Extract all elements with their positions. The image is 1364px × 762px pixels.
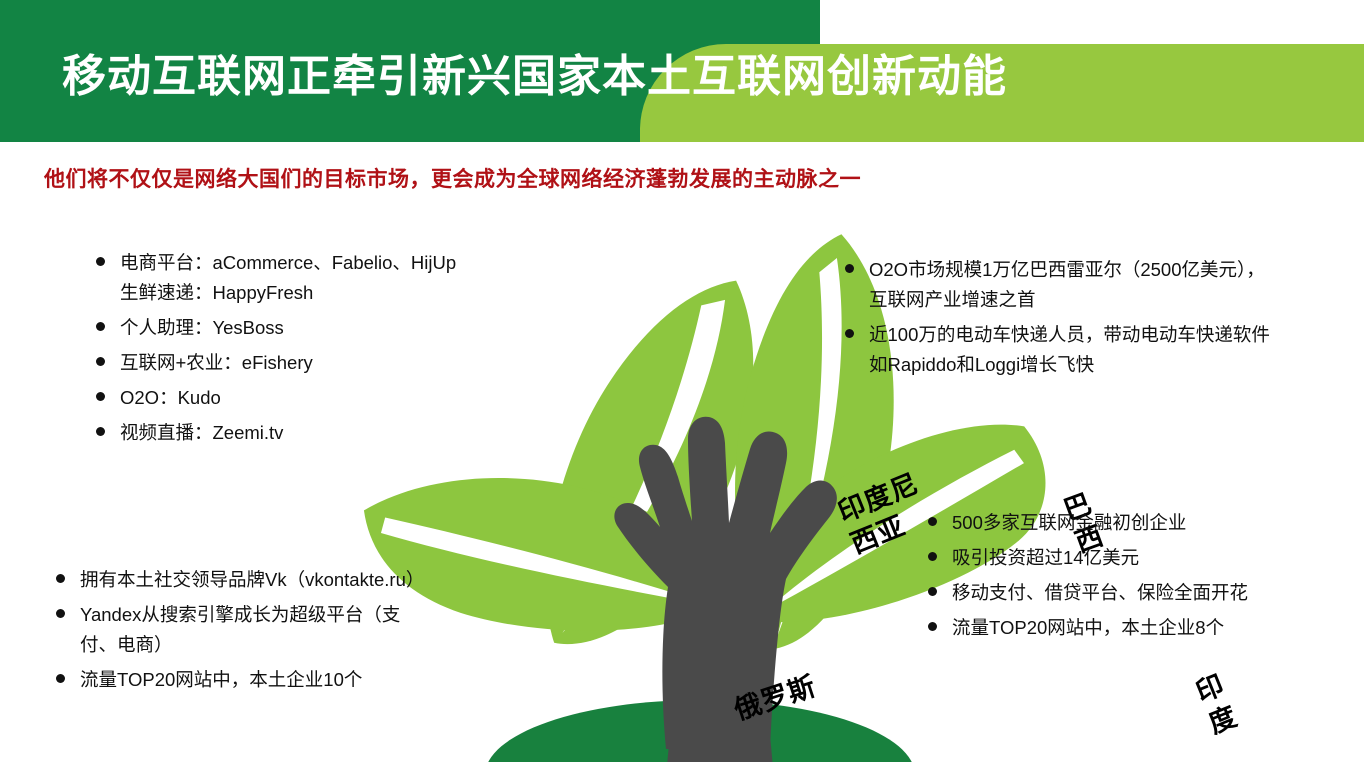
bullet-dot-icon	[96, 357, 105, 366]
list-item: 移动支付、借贷平台、保险全面开花	[928, 578, 1348, 608]
list-item: 500多家互联网金融初创企业	[928, 508, 1348, 538]
bullet-block-indonesia: 电商平台：aCommerce、Fabelio、HijUp生鲜速递：HappyFr…	[96, 248, 536, 453]
list-item-text: O2O市场规模1万亿巴西雷亚尔（2500亿美元），互联网产业增速之首	[869, 255, 1265, 315]
page-title: 移动互联网正牵引新兴国家本土互联网创新动能	[62, 50, 1262, 104]
list-item: 流量TOP20网站中，本土企业8个	[928, 613, 1348, 643]
list-item-text: 拥有本土社交领导品牌Vk（vkontakte.ru）	[80, 565, 424, 595]
subtitle: 他们将不仅仅是网络大国们的目标市场，更会成为全球网络经济蓬勃发展的主动脉之一	[44, 163, 861, 193]
list-item: 吸引投资超过14亿美元	[928, 543, 1348, 573]
bullet-dot-icon	[56, 574, 65, 583]
leaf-label-india: 印度	[1191, 668, 1242, 742]
bullet-dot-icon	[928, 517, 937, 526]
slide-canvas: 移动互联网正牵引新兴国家本土互联网创新动能 他们将不仅仅是网络大国们的目标市场，…	[0, 0, 1364, 762]
bullet-dot-icon	[96, 392, 105, 401]
list-item-subline: 互联网产业增速之首	[869, 285, 1265, 315]
list-item-subline: 付、电商）	[80, 630, 400, 660]
slide-header: 移动互联网正牵引新兴国家本土互联网创新动能	[0, 0, 1364, 142]
bullet-dot-icon	[928, 587, 937, 596]
list-item: 拥有本土社交领导品牌Vk（vkontakte.ru）	[56, 565, 516, 595]
list-item-text: 个人助理：YesBoss	[120, 313, 284, 343]
list-item-text: 互联网+农业：eFishery	[120, 348, 313, 378]
list-item: 近100万的电动车快递人员，带动电动车快递软件如Rapiddo和Loggi增长飞…	[845, 320, 1345, 380]
list-item-text: 吸引投资超过14亿美元	[952, 543, 1139, 573]
list-item-text: 视频直播：Zeemi.tv	[120, 418, 283, 448]
bullet-dot-icon	[928, 622, 937, 631]
list-item-subline: 生鲜速递：HappyFresh	[120, 278, 456, 308]
list-item: O2O市场规模1万亿巴西雷亚尔（2500亿美元），互联网产业增速之首	[845, 255, 1345, 315]
bullet-dot-icon	[96, 427, 105, 436]
list-item-text: 500多家互联网金融初创企业	[952, 508, 1186, 538]
list-item-text: O2O：Kudo	[120, 383, 221, 413]
bullet-dot-icon	[845, 264, 854, 273]
list-item: 视频直播：Zeemi.tv	[96, 418, 536, 448]
list-item-text: 移动支付、借贷平台、保险全面开花	[952, 578, 1248, 608]
bullet-block-russia: 拥有本土社交领导品牌Vk（vkontakte.ru）Yandex从搜索引擎成长为…	[56, 565, 516, 700]
bullet-block-brazil: O2O市场规模1万亿巴西雷亚尔（2500亿美元），互联网产业增速之首近100万的…	[845, 255, 1345, 385]
list-item-subline: 如Rapiddo和Loggi增长飞快	[869, 350, 1270, 380]
list-item: 个人助理：YesBoss	[96, 313, 536, 343]
list-item: Yandex从搜索引擎成长为超级平台（支付、电商）	[56, 600, 516, 660]
bullet-dot-icon	[96, 322, 105, 331]
bullet-dot-icon	[928, 552, 937, 561]
bullet-dot-icon	[96, 257, 105, 266]
list-item-text: 电商平台：aCommerce、Fabelio、HijUp生鲜速递：HappyFr…	[120, 248, 456, 308]
list-item: 电商平台：aCommerce、Fabelio、HijUp生鲜速递：HappyFr…	[96, 248, 536, 308]
bullet-block-india: 500多家互联网金融初创企业吸引投资超过14亿美元移动支付、借贷平台、保险全面开…	[928, 508, 1348, 648]
bullet-dot-icon	[56, 609, 65, 618]
list-item-text: 流量TOP20网站中，本土企业8个	[952, 613, 1224, 643]
list-item-text: 流量TOP20网站中，本土企业10个	[80, 665, 362, 695]
bullet-dot-icon	[845, 329, 854, 338]
bullet-dot-icon	[56, 674, 65, 683]
list-item-text: 近100万的电动车快递人员，带动电动车快递软件如Rapiddo和Loggi增长飞…	[869, 320, 1270, 380]
list-item-text: Yandex从搜索引擎成长为超级平台（支付、电商）	[80, 600, 400, 660]
list-item: 流量TOP20网站中，本土企业10个	[56, 665, 516, 695]
list-item: 互联网+农业：eFishery	[96, 348, 536, 378]
list-item: O2O：Kudo	[96, 383, 536, 413]
